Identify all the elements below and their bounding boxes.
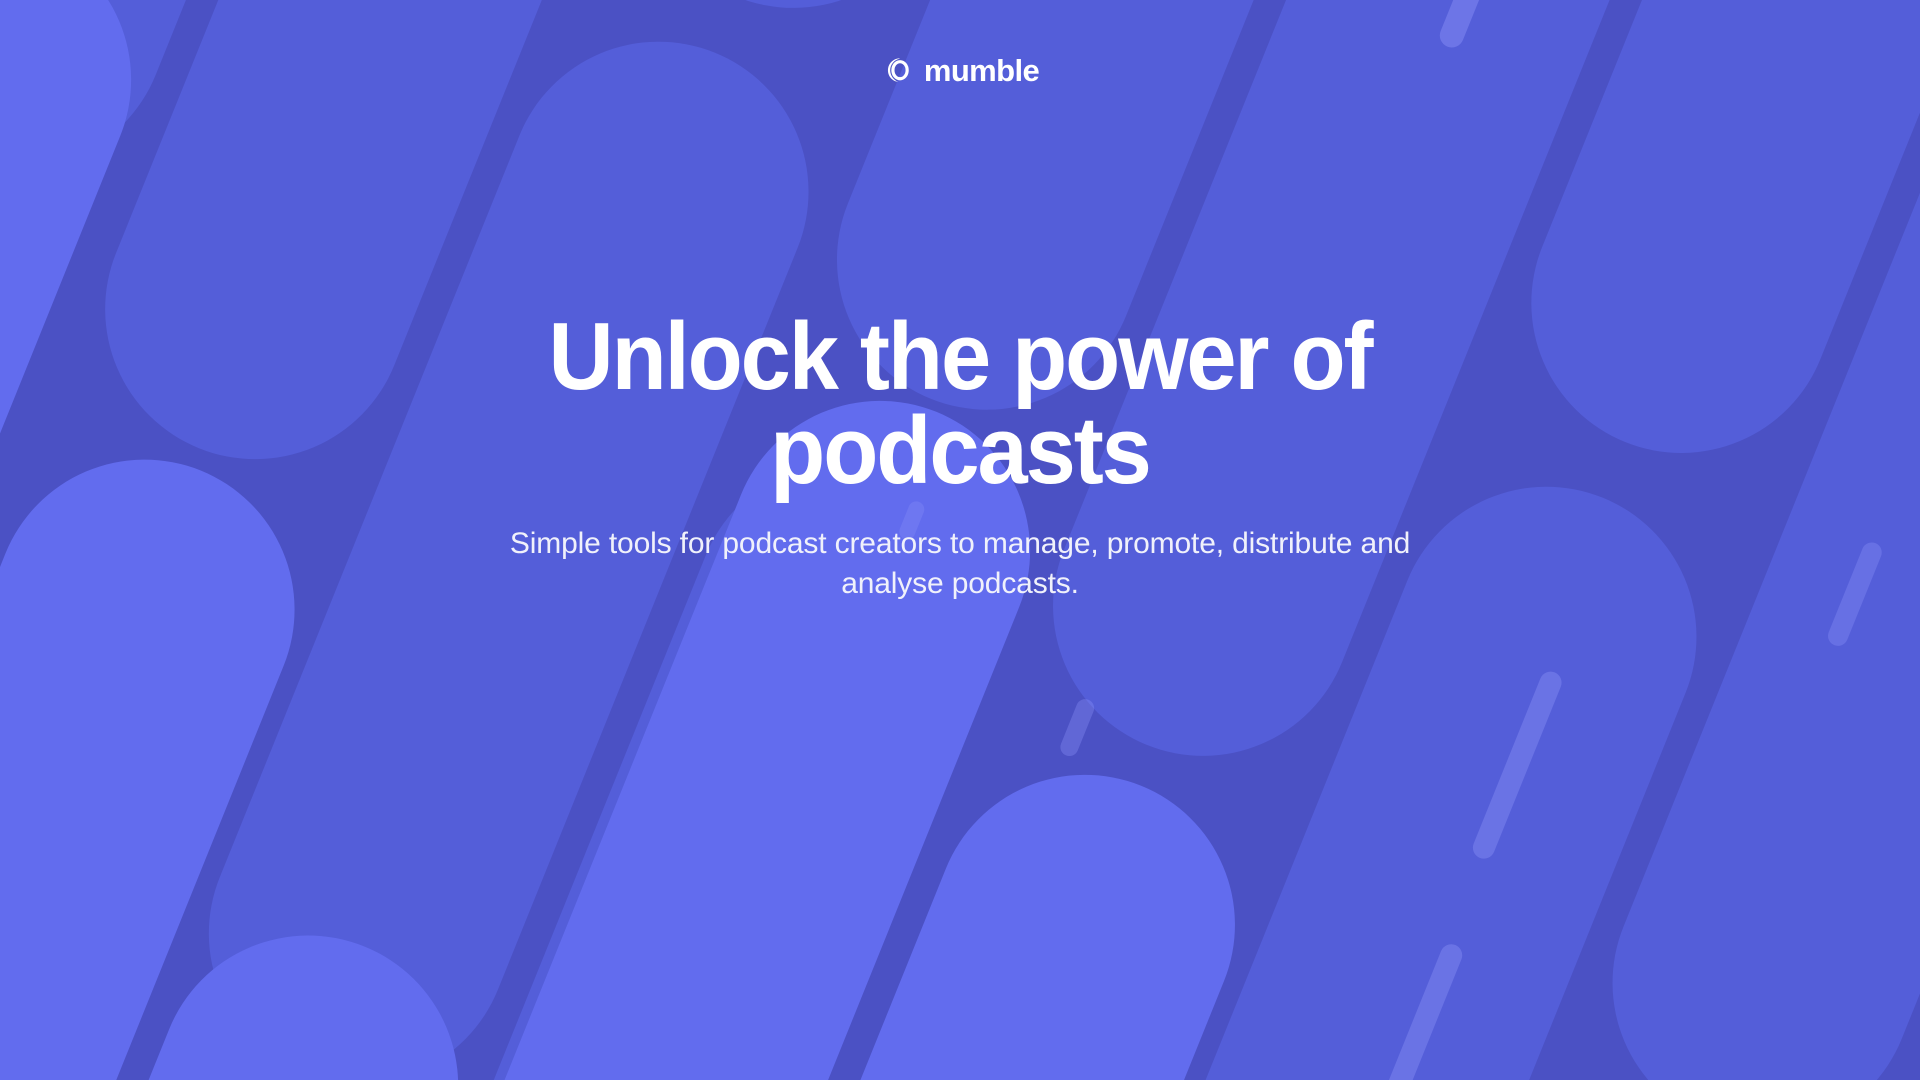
hero-copy: Unlock the power of podcasts Simple tool… <box>460 310 1460 603</box>
page-title: Unlock the power of podcasts <box>490 310 1430 498</box>
brand-logo[interactable]: mumble <box>881 48 1039 92</box>
spiral-o-logo-icon <box>881 55 911 85</box>
brand-name-text: mumble <box>924 55 1039 86</box>
hero-section: mumble Unlock the power of podcasts Simp… <box>0 0 1920 1080</box>
hero-subtitle: Simple tools for podcast creators to man… <box>460 524 1460 603</box>
